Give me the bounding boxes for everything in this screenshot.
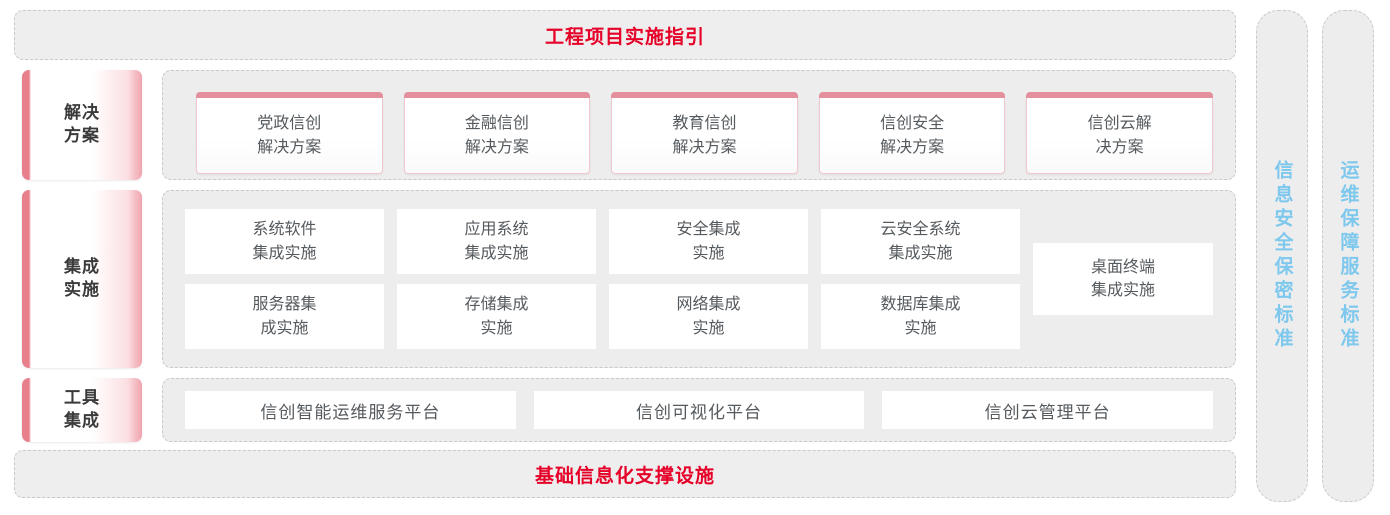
row-label-solutions-line1: 解决 [64,102,100,125]
solution-card-text: 教育信创 解决方案 [672,112,736,158]
page-title: 工程项目实施指引 [545,22,705,49]
row-label-integration[interactable]: 集成 实施 [22,190,142,368]
side-panel-security-standard[interactable]: 信息安全保密标准 [1256,10,1308,502]
side-panel-security-standard-label: 信息安全保密标准 [1273,160,1292,352]
integration-card-text: 安全集成 实施 [676,218,740,264]
row-panel-solutions: 党政信创 解决方案 金融信创 解决方案 教育信创 解决方案 [162,70,1236,180]
row-integration: 集成 实施 系统软件 集成实施 [14,190,1236,368]
row-tools: 工具 集成 信创智能运维服务平台 信创可视化平台 信创云管理平台 [14,378,1236,442]
row-label-solutions[interactable]: 解决 方案 [22,70,142,180]
integration-card-text: 系统软件 集成实施 [252,218,316,264]
solution-card[interactable]: 金融信创 解决方案 [404,98,591,174]
integration-card-text: 应用系统 集成实施 [464,218,528,264]
tool-card-label: 信创云管理平台 [985,398,1111,423]
integration-card-line2: 集成实施 [252,242,316,265]
solution-card-text: 信创云解 决方案 [1088,112,1152,158]
row-label-tools-text: 工具 集成 [64,387,100,433]
footer-band: 基础信息化支撑设施 [14,450,1236,498]
solution-card-text: 信创安全 解决方案 [880,112,944,158]
solution-card-line2: 决方案 [1088,136,1152,159]
solution-card[interactable]: 信创安全 解决方案 [819,98,1006,174]
row-label-tools[interactable]: 工具 集成 [22,378,142,442]
solution-card-line2: 解决方案 [465,136,529,159]
integration-card-desktop-terminal-text: 桌面终端 集成实施 [1091,256,1155,302]
integration-card[interactable]: 云安全系统 集成实施 [821,209,1020,274]
integration-grid: 系统软件 集成实施 应用系统 集成实施 [185,209,1020,349]
integration-card-text: 云安全系统 集成实施 [880,218,960,264]
integration-card-line1: 安全集成 [676,218,740,241]
solution-card[interactable]: 信创云解 决方案 [1026,98,1213,174]
row-panel-integration: 系统软件 集成实施 应用系统 集成实施 [162,190,1236,368]
integration-card[interactable]: 数据库集成 实施 [821,284,1020,349]
solution-card-line1: 教育信创 [672,112,736,135]
integration-card-line1: 网络集成 [676,293,740,316]
header-band: 工程项目实施指引 [14,10,1236,60]
integration-card-line1: 数据库集成 [880,293,960,316]
integration-card-desktop-terminal-line2: 集成实施 [1091,279,1155,302]
integration-grid-row: 服务器集 成实施 存储集成 实施 [185,284,1020,349]
main-column: 工程项目实施指引 解决 方案 党政信创 解决方案 [14,10,1236,502]
tool-card-label: 信创可视化平台 [636,398,762,423]
integration-card-line1: 服务器集 [252,293,316,316]
solution-card-grid: 党政信创 解决方案 金融信创 解决方案 教育信创 解决方案 [196,98,1213,174]
row-label-solutions-text: 解决 方案 [64,102,100,148]
integration-card-text: 数据库集成 实施 [880,293,960,339]
solution-card[interactable]: 党政信创 解决方案 [196,98,383,174]
integration-card-text: 网络集成 实施 [676,293,740,339]
tool-card[interactable]: 信创智能运维服务平台 [185,391,516,429]
integration-card-text: 存储集成 实施 [464,293,528,339]
row-label-tools-line2: 集成 [64,410,100,433]
row-label-integration-line2: 实施 [64,279,100,302]
integration-card-desktop-terminal[interactable]: 桌面终端 集成实施 [1033,243,1213,315]
row-label-integration-line1: 集成 [64,256,100,279]
row-label-tools-line1: 工具 [64,387,100,410]
solution-card-line1: 信创安全 [880,112,944,135]
integration-card-line2: 集成实施 [464,242,528,265]
integration-grid-row: 系统软件 集成实施 应用系统 集成实施 [185,209,1020,274]
integration-card[interactable]: 安全集成 实施 [609,209,808,274]
solution-card-line2: 解决方案 [672,136,736,159]
integration-card[interactable]: 系统软件 集成实施 [185,209,384,274]
solution-card[interactable]: 教育信创 解决方案 [611,98,798,174]
integration-card-line2: 实施 [880,317,960,340]
row-solutions: 解决 方案 党政信创 解决方案 金融信创 解决方案 [14,70,1236,180]
integration-card[interactable]: 网络集成 实施 [609,284,808,349]
integration-card[interactable]: 应用系统 集成实施 [397,209,596,274]
integration-card[interactable]: 服务器集 成实施 [185,284,384,349]
solution-card-line1: 信创云解 [1088,112,1152,135]
row-label-solutions-line2: 方案 [64,125,100,148]
tool-card-label: 信创智能运维服务平台 [260,398,440,423]
solution-card-text: 金融信创 解决方案 [465,112,529,158]
tool-card[interactable]: 信创云管理平台 [882,391,1213,429]
solution-card-line1: 金融信创 [465,112,529,135]
integration-card-line1: 云安全系统 [880,218,960,241]
integration-card-desktop-terminal-line1: 桌面终端 [1091,256,1155,279]
diagram-root: 工程项目实施指引 解决 方案 党政信创 解决方案 [0,0,1390,515]
integration-card-line2: 实施 [676,242,740,265]
integration-card[interactable]: 存储集成 实施 [397,284,596,349]
integration-card-line2: 成实施 [252,317,316,340]
integration-card-line2: 实施 [464,317,528,340]
solution-card-line1: 党政信创 [257,112,321,135]
integration-card-line2: 实施 [676,317,740,340]
row-label-integration-text: 集成 实施 [64,256,100,302]
tool-card-grid: 信创智能运维服务平台 信创可视化平台 信创云管理平台 [185,391,1213,429]
integration-card-line1: 系统软件 [252,218,316,241]
footer-title: 基础信息化支撑设施 [535,461,715,488]
solution-card-line2: 解决方案 [880,136,944,159]
integration-card-line1: 存储集成 [464,293,528,316]
tool-card[interactable]: 信创可视化平台 [534,391,865,429]
side-panel-ops-standard-label: 运维保障服务标准 [1339,160,1358,352]
integration-card-text: 服务器集 成实施 [252,293,316,339]
side-panel-ops-standard[interactable]: 运维保障服务标准 [1322,10,1374,502]
row-panel-tools: 信创智能运维服务平台 信创可视化平台 信创云管理平台 [162,378,1236,442]
integration-area: 系统软件 集成实施 应用系统 集成实施 [185,209,1213,349]
solution-card-text: 党政信创 解决方案 [257,112,321,158]
solution-card-line2: 解决方案 [257,136,321,159]
integration-card-line2: 集成实施 [880,242,960,265]
integration-card-line1: 应用系统 [464,218,528,241]
